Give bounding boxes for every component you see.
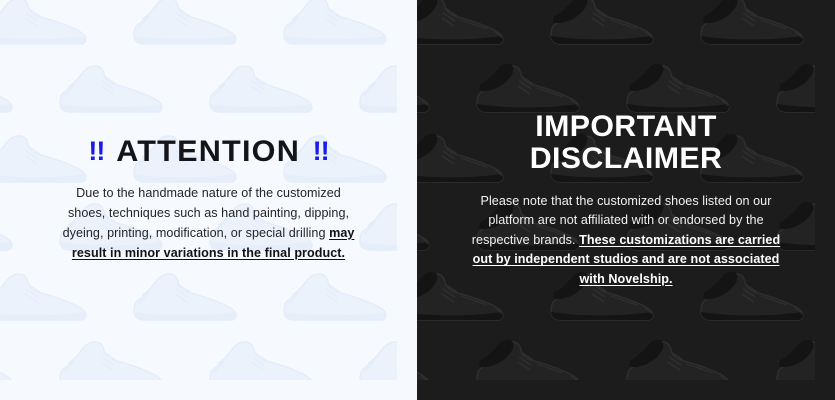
attention-body: Due to the handmade nature of the custom… xyxy=(59,184,359,264)
attention-panel: !! ATTENTION !! Due to the handmade natu… xyxy=(0,0,417,400)
double-exclamation-icon-right: !! xyxy=(313,137,329,165)
disclaimer-headline: IMPORTANT DISCLAIMER xyxy=(443,111,809,176)
attention-content: !! ATTENTION !! Due to the handmade natu… xyxy=(0,136,417,263)
disclaimer-headline-line-1: IMPORTANT xyxy=(441,111,811,143)
disclaimer-panel: IMPORTANT DISCLAIMER Please note that th… xyxy=(417,0,835,400)
attention-headline-text: ATTENTION xyxy=(117,136,301,168)
disclaimer-body: Please note that the customized shoes li… xyxy=(466,192,786,290)
customization-notice-banner: !! ATTENTION !! Due to the handmade natu… xyxy=(0,0,835,400)
disclaimer-content: IMPORTANT DISCLAIMER Please note that th… xyxy=(417,111,835,289)
double-exclamation-icon-left: !! xyxy=(88,137,104,165)
attention-body-regular: Due to the handmade nature of the custom… xyxy=(63,186,350,240)
disclaimer-headline-line-2: DISCLAIMER xyxy=(441,143,811,175)
attention-headline: !! ATTENTION !! xyxy=(30,136,387,168)
